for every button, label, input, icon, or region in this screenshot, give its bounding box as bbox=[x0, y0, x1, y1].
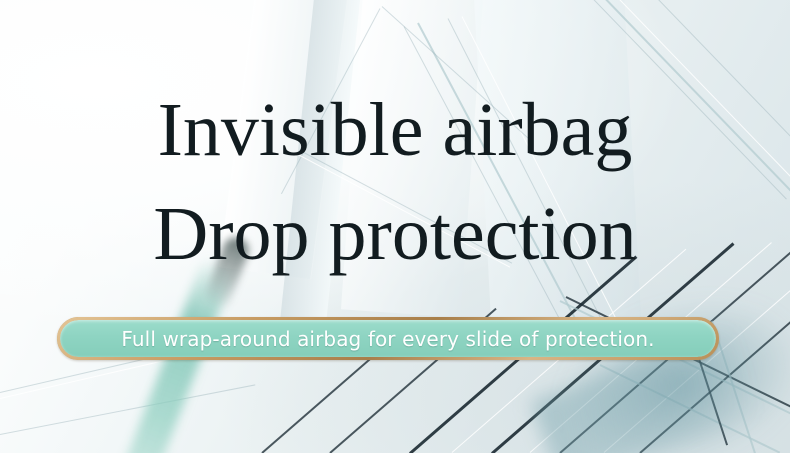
banner-content: Invisible airbag Drop protection Full wr… bbox=[0, 0, 790, 453]
headline-line-1: Invisible airbag bbox=[0, 92, 790, 168]
subtitle-pill: Full wrap-around airbag for every slide … bbox=[57, 317, 719, 360]
subtitle-banner: Full wrap-around airbag for every slide … bbox=[57, 317, 719, 360]
headline-line-2: Drop protection bbox=[0, 196, 790, 272]
subtitle-text: Full wrap-around airbag for every slide … bbox=[121, 327, 654, 351]
promo-banner: Invisible airbag Drop protection Full wr… bbox=[0, 0, 790, 453]
